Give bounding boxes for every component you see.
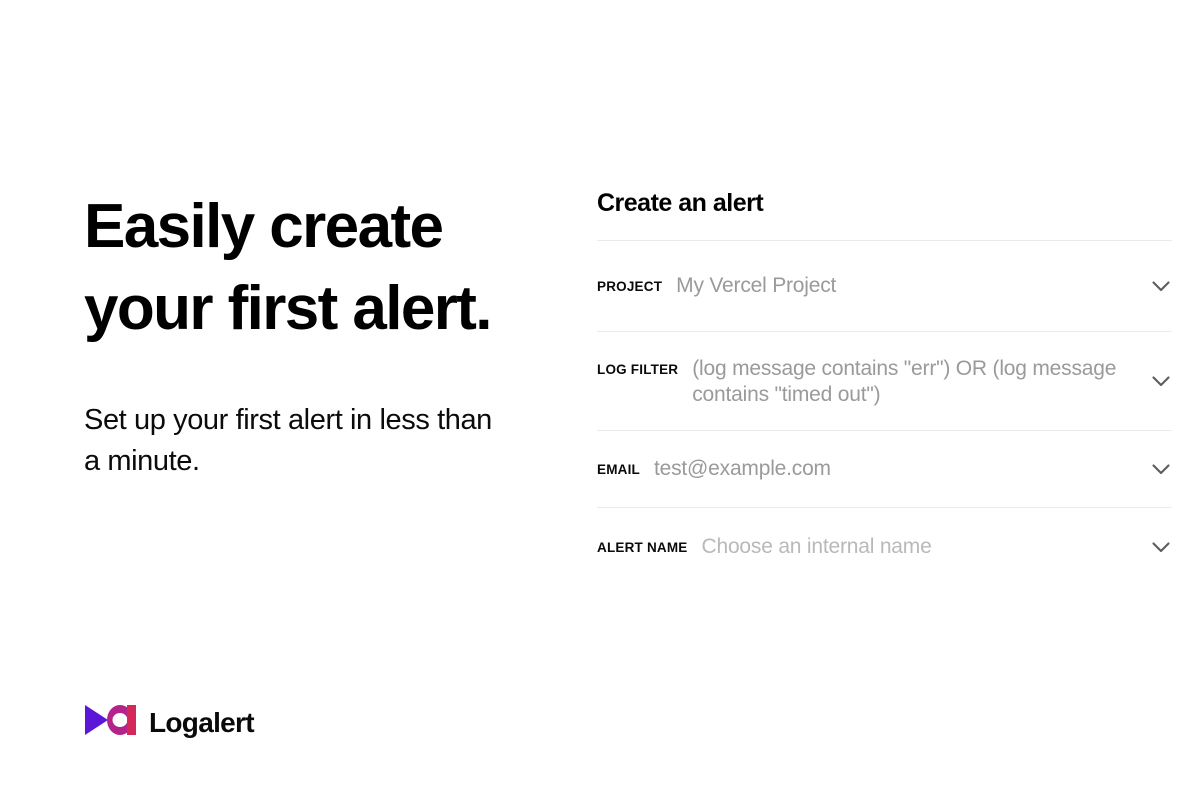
field-value-email[interactable]: test@example.com xyxy=(654,456,1126,482)
field-value-alert-name[interactable]: Choose an internal name xyxy=(702,534,1127,560)
create-alert-form: Create an alert PROJECT My Vercel Projec… xyxy=(597,186,1172,586)
chevron-down-icon-email[interactable] xyxy=(1150,458,1172,480)
chevron-down-icon-log-filter[interactable] xyxy=(1150,370,1172,392)
brand-name: Logalert xyxy=(149,709,254,737)
form-field-list: PROJECT My Vercel Project LOG FILTER (lo… xyxy=(597,241,1172,586)
field-row-log-filter[interactable]: LOG FILTER (log message contains "err") … xyxy=(597,332,1172,430)
chevron-down-icon-alert-name[interactable] xyxy=(1150,536,1172,558)
hero-subtitle: Set up your first alert in less than a m… xyxy=(84,400,554,482)
field-row-alert-name[interactable]: ALERT NAME Choose an internal name xyxy=(597,508,1172,586)
field-label-alert-name: ALERT NAME xyxy=(597,534,688,560)
page-title: Easily create your first alert. xyxy=(84,186,564,350)
field-value-project[interactable]: My Vercel Project xyxy=(676,273,1126,299)
logalert-play-a-logo-icon xyxy=(84,703,136,742)
form-title: Create an alert xyxy=(597,186,1172,220)
brand-logo[interactable]: Logalert xyxy=(84,703,254,742)
field-label-project: PROJECT xyxy=(597,273,662,299)
field-label-log-filter: LOG FILTER xyxy=(597,356,678,382)
hero-section: Easily create your first alert. Set up y… xyxy=(84,186,564,350)
chevron-down-icon-project[interactable] xyxy=(1150,275,1172,297)
landing-page: Easily create your first alert. Set up y… xyxy=(0,0,1200,800)
field-value-log-filter[interactable]: (log message contains "err") OR (log mes… xyxy=(692,356,1126,408)
field-label-email: EMAIL xyxy=(597,456,640,482)
field-row-project[interactable]: PROJECT My Vercel Project xyxy=(597,241,1172,331)
field-row-email[interactable]: EMAIL test@example.com xyxy=(597,431,1172,507)
